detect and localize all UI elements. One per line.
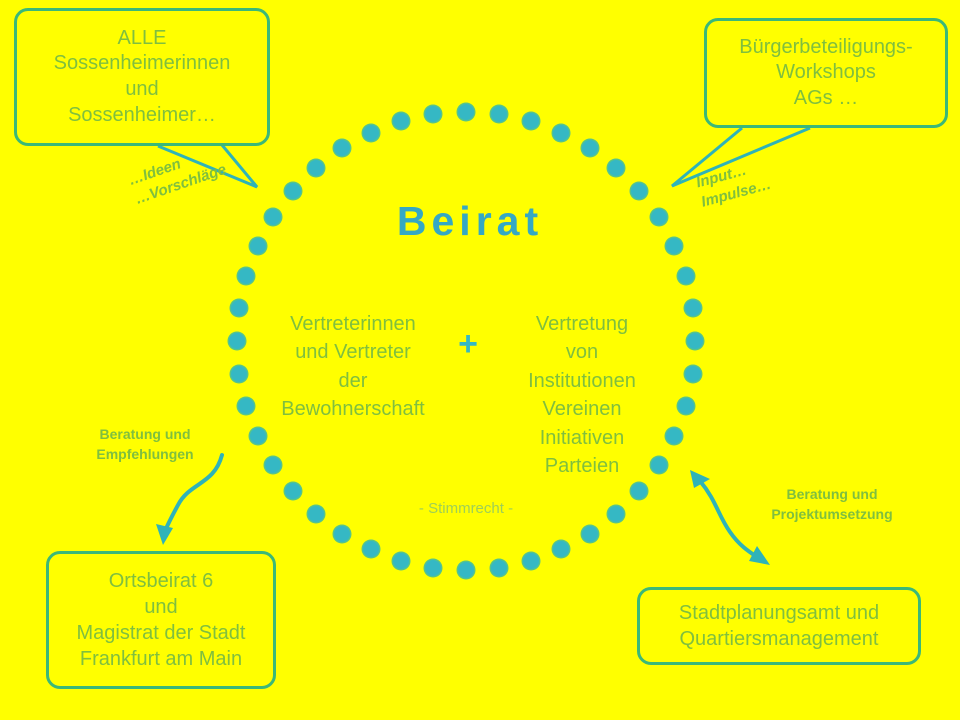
ring-dot (687, 333, 703, 349)
arrow-label-beratung-empfehlungen: Beratung und Empfehlungen (70, 425, 220, 464)
callout-buergerbeteiligungs-workshops[interactable]: Bürgerbeteiligungs- Workshops AGs … (704, 18, 948, 128)
box-stadtplanung-text: Stadtplanungsamt und Quartiersmanagement (640, 600, 918, 652)
ring-dot (685, 366, 701, 382)
ring-dot (238, 398, 254, 414)
ring-dot (285, 183, 301, 199)
ring-dot (685, 300, 701, 316)
box-stadtplanungsamt-quartiersmanagement[interactable]: Stadtplanungsamt und Quartiersmanagement (637, 587, 921, 665)
diagram-canvas: ALLE Sossenheimerinnen und Sossenheimer…… (0, 0, 960, 720)
callout-workshops-text: Bürgerbeteiligungs- Workshops AGs … (707, 35, 945, 112)
page-title: Beirat (330, 198, 610, 245)
ring-dot (265, 209, 281, 225)
label-ideen-vorschlaege: …Ideen …Vorschläge (126, 141, 229, 210)
ring-dot (363, 125, 379, 141)
center-column-bewohnerschaft: Vertreterinnen und Vertreter der Bewohne… (258, 310, 448, 424)
ring-dot (553, 125, 569, 141)
ring-dot (308, 160, 324, 176)
ring-dot (458, 562, 474, 578)
ring-dot (666, 238, 682, 254)
arrow-label-beratung-projektumsetzung: Beratung und Projektumsetzung (744, 485, 920, 524)
ring-dot (285, 483, 301, 499)
ring-dot (523, 113, 539, 129)
ring-dot (425, 560, 441, 576)
ring-dot (491, 106, 507, 122)
ring-dot (678, 268, 694, 284)
ring-dot (651, 209, 667, 225)
ring-dot (334, 140, 350, 156)
ring-dot (265, 457, 281, 473)
label-input-impulse: Input… Impulse… (694, 155, 774, 213)
ring-dot (231, 366, 247, 382)
ring-dot (582, 140, 598, 156)
box-ortsbeirat-magistrat[interactable]: Ortsbeirat 6 und Magistrat der Stadt Fra… (46, 551, 276, 689)
ring-dot (523, 553, 539, 569)
ring-dot (631, 483, 647, 499)
ring-dot (231, 300, 247, 316)
ring-dot (491, 560, 507, 576)
curved-arrow-down-left-icon (156, 455, 222, 545)
ring-dot (229, 333, 245, 349)
ring-dot (334, 526, 350, 542)
stimmrecht-note: - Stimmrecht - (366, 500, 566, 517)
ring-dot (582, 526, 598, 542)
ring-dot (393, 553, 409, 569)
callout-alle-sossenheimer[interactable]: ALLE Sossenheimerinnen und Sossenheimer… (14, 8, 270, 146)
ring-dot (308, 506, 324, 522)
ring-dot (363, 541, 379, 557)
ring-dot (553, 541, 569, 557)
ring-dot (608, 506, 624, 522)
ring-dot (678, 398, 694, 414)
ring-dot (608, 160, 624, 176)
ring-dot (393, 113, 409, 129)
ring-dot (250, 428, 266, 444)
ring-dot (425, 106, 441, 122)
ring-dot (631, 183, 647, 199)
box-ortsbeirat-text: Ortsbeirat 6 und Magistrat der Stadt Fra… (49, 568, 273, 672)
center-column-institutionen: Vertretung von Institutionen Vereinen In… (487, 310, 677, 480)
ring-dot (458, 104, 474, 120)
ring-dot (250, 238, 266, 254)
ring-dot (238, 268, 254, 284)
callout-alle-text: ALLE Sossenheimerinnen und Sossenheimer… (17, 26, 267, 128)
